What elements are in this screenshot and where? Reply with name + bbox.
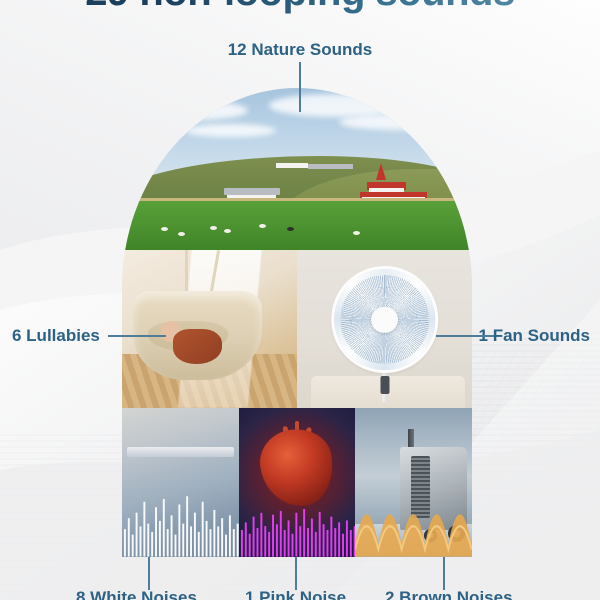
leader-line-white-noise [148, 557, 150, 590]
lullaby-photo [122, 250, 297, 408]
leader-line-pink-noise [295, 557, 297, 590]
callout-label-lullabies: 6 Lullabies [12, 326, 100, 346]
callout-label-fan: 1 Fan Sounds [479, 326, 590, 346]
collage-row-nature [122, 88, 472, 250]
nature-photo [122, 88, 472, 250]
brown-noise-photo [355, 408, 472, 557]
fan-photo [297, 250, 472, 408]
arch-collage [122, 88, 472, 557]
white-noise-photo [122, 408, 239, 557]
poster-canvas: 29 non-looping sounds [0, 0, 600, 600]
callout-label-brown-noise: 2 Brown Noises [385, 588, 513, 600]
leader-line-brown-noise [443, 557, 445, 590]
callout-label-white-noise: 8 White Noises [76, 588, 197, 600]
leader-line-fan [436, 335, 494, 337]
callout-label-nature: 12 Nature Sounds [0, 40, 600, 60]
leader-line-lullabies [108, 335, 166, 337]
page-title: 29 non-looping sounds [0, 0, 600, 15]
pink-noise-photo [239, 408, 356, 557]
collage-row-noise [122, 408, 472, 557]
leader-line-nature [299, 62, 301, 112]
collage-row-mid [122, 250, 472, 408]
